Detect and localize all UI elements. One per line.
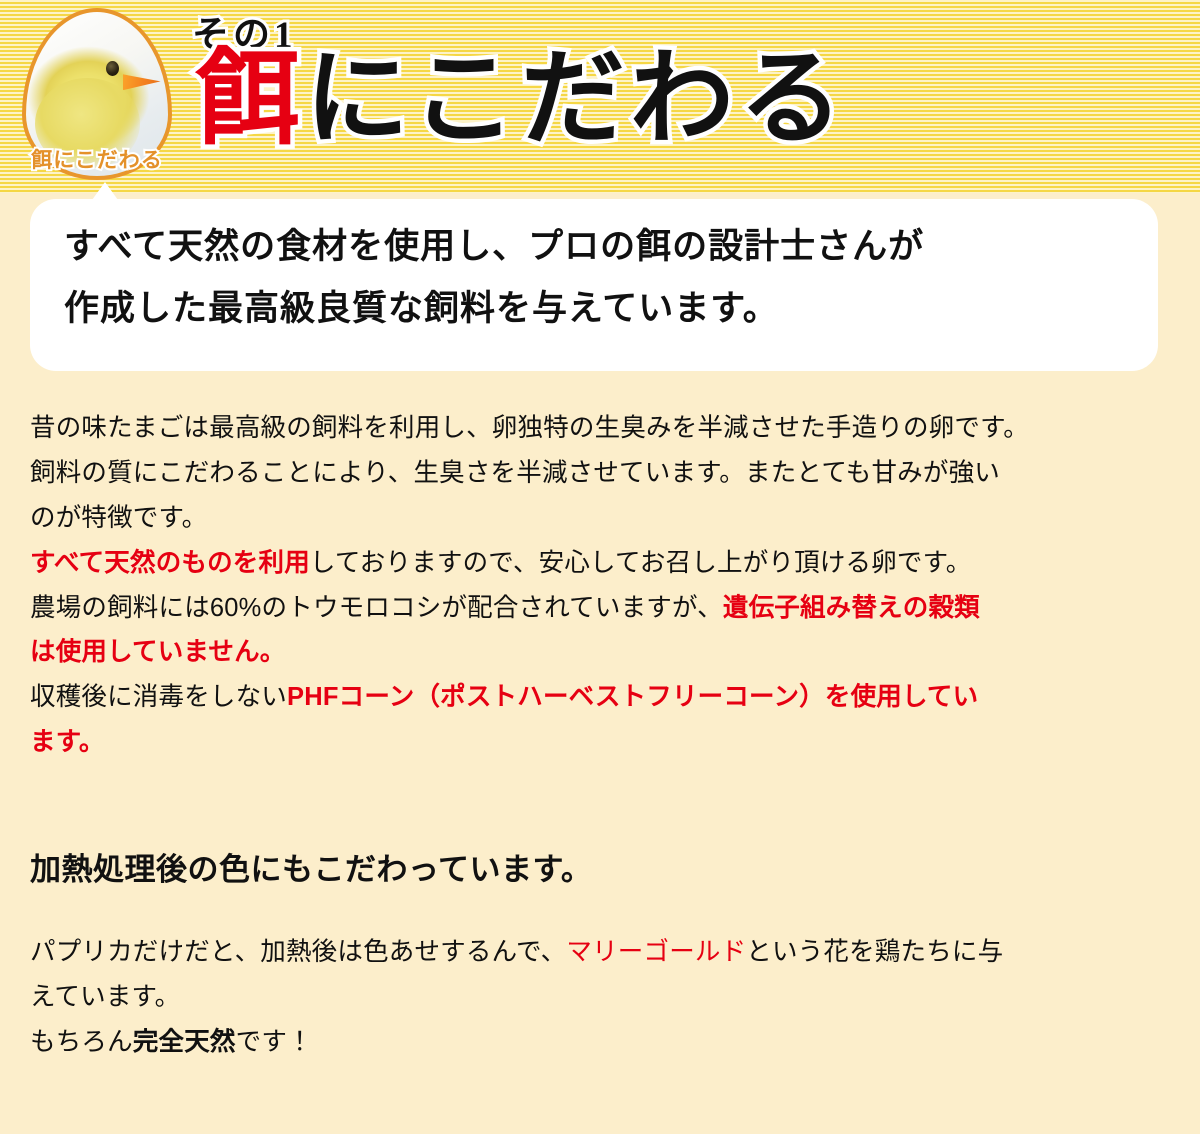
- callout-line-2: 作成した最高級良質な飼料を与えています。: [64, 278, 1134, 340]
- body-line-8: ます。: [30, 720, 1180, 765]
- body2-line-3-plain-2: です！: [236, 1028, 313, 1056]
- body-copy-lower: パプリカだけだと、加熱後は色あせするんで、マリーゴールドという花を鶏たちに与 え…: [30, 930, 1180, 1065]
- callout-text: すべて天然の食材を使用し、プロの餌の設計士さんが 作成した最高級良質な飼料を与え…: [64, 216, 1134, 341]
- body-copy-upper: 昔の味たまごは最高級の飼料を利用し、卵独特の生臭みを半減させた手造りの卵です。 …: [30, 406, 1180, 765]
- header-striped-band: 餌にこだわる その1 餌にこだわる: [0, 0, 1200, 193]
- callout-line-1: すべて天然の食材を使用し、プロの餌の設計士さんが: [64, 216, 1134, 278]
- chick-beak: [123, 71, 161, 91]
- body-line-4-plain: しておりますので、安心してお召し上がり頂ける卵です。: [310, 549, 972, 577]
- body-line-5-plain: 農場の飼料には60%のトウモロコシが配合されていますが、: [30, 594, 723, 622]
- body-line-5-highlight: 遺伝子組み替えの穀類: [723, 594, 980, 622]
- body-line-6-highlight: は使用していません。: [30, 638, 285, 666]
- body-line-4-highlight: すべて天然のものを利用: [30, 549, 310, 577]
- body2-line-1-plain-2: という花を鶏たちに与: [746, 938, 1003, 966]
- body2-line-2: えています。: [30, 975, 1180, 1020]
- body-line-8-highlight: ます。: [30, 728, 105, 756]
- page-title-rest: にこだわる: [305, 42, 848, 157]
- body-line-7-plain: 収穫後に消毒をしない: [30, 683, 287, 711]
- body-line-2: 飼料の質にこだわることにより、生臭さを半減させています。またとても甘みが強い: [30, 451, 1180, 496]
- chick-eye: [106, 61, 119, 76]
- body-line-7: 収穫後に消毒をしないPHFコーン（ポストハーベストフリーコーン）を使用してい: [30, 675, 1180, 720]
- body-line-4: すべて天然のものを利用しておりますので、安心してお召し上がり頂ける卵です。: [30, 541, 1180, 586]
- section-heading: 加熱処理後の色にもこだわっています。: [30, 844, 592, 889]
- body-line-3: のが特徴です。: [30, 496, 1180, 541]
- body2-line-3: もちろん完全天然です！: [30, 1020, 1180, 1065]
- page-title-accent: 餌: [196, 42, 305, 157]
- body-line-6: は使用していません。: [30, 630, 1180, 675]
- callout-pointer: [92, 182, 118, 200]
- body2-line-1-highlight: マリーゴールド: [566, 938, 746, 966]
- body2-line-1-plain: パプリカだけだと、加熱後は色あせするんで、: [30, 938, 566, 966]
- body-line-5: 農場の飼料には60%のトウモロコシが配合されていますが、遺伝子組み替えの穀類: [30, 586, 1180, 631]
- body2-line-1: パプリカだけだと、加熱後は色あせするんで、マリーゴールドという花を鶏たちに与: [30, 930, 1180, 975]
- page-title: 餌にこだわる: [196, 44, 848, 156]
- body2-line-3-bold: 完全天然: [133, 1028, 236, 1056]
- body-line-1: 昔の味たまごは最高級の飼料を利用し、卵独特の生臭みを半減させた手造りの卵です。: [30, 406, 1180, 451]
- body2-line-3-plain: もちろん: [30, 1028, 133, 1056]
- photo-caption: 餌にこだわる: [8, 144, 186, 174]
- callout-bubble: すべて天然の食材を使用し、プロの餌の設計士さんが 作成した最高級良質な飼料を与え…: [30, 199, 1158, 371]
- body-line-7-highlight: PHFコーン（ポストハーベストフリーコーン）を使用してい: [287, 683, 978, 711]
